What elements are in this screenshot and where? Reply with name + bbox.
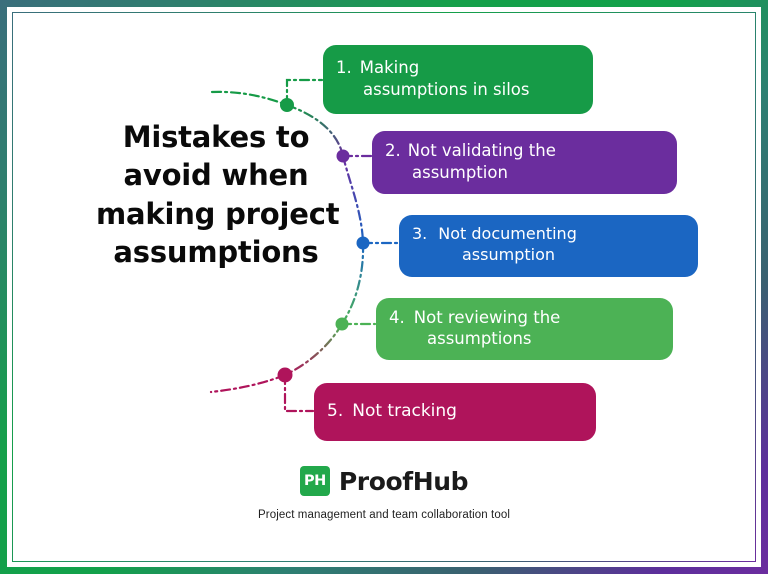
item-card-4-line-2: assumptions <box>389 328 660 349</box>
item-card-3-line-2: assumption <box>412 245 685 266</box>
item-card-4-text: 4.Not reviewing the assumptions <box>389 307 660 350</box>
infographic-canvas: Mistakes to avoid when making project as… <box>0 0 768 574</box>
item-card-5-text: 5.Not tracking <box>327 400 583 422</box>
brand-logo[interactable]: PH ProofHub <box>300 466 468 496</box>
brand-name: ProofHub <box>339 467 468 496</box>
item-card-3-number: 3. <box>412 224 427 245</box>
item-card-5[interactable]: 5.Not tracking <box>314 383 596 441</box>
item-card-1-text: 1.Making assumptions in silos <box>336 57 580 100</box>
proofhub-logo-icon: PH <box>300 466 330 496</box>
item-card-5-number: 5. <box>327 400 343 422</box>
item-card-3-text: 3.Not documenting assumption <box>412 224 685 266</box>
item-card-2-text: 2.Not validating the assumption <box>385 140 664 183</box>
item-card-1[interactable]: 1.Making assumptions in silos <box>323 45 593 114</box>
item-card-4[interactable]: 4.Not reviewing the assumptions <box>376 298 673 360</box>
item-card-2[interactable]: 2.Not validating the assumption <box>372 131 677 194</box>
item-card-5-line-1: Not tracking <box>352 401 457 421</box>
item-card-1-line-2: assumptions in silos <box>336 79 580 100</box>
page-title-line-4: assumptions <box>96 233 336 271</box>
page-title-line-2: avoid when <box>96 156 336 194</box>
footer: PH ProofHub Project management and team … <box>0 466 768 521</box>
item-card-3[interactable]: 3.Not documenting assumption <box>399 215 698 277</box>
item-card-1-line-1: Making <box>360 58 419 77</box>
item-card-4-line-1: Not reviewing the <box>414 308 561 327</box>
item-card-2-line-2: assumption <box>385 162 664 183</box>
item-card-3-line-1: Not documenting <box>438 224 577 243</box>
page-title: Mistakes to avoid when making project as… <box>96 118 336 271</box>
page-title-line-3: making project <box>96 195 336 233</box>
item-card-1-number: 1. <box>336 57 352 78</box>
item-card-4-number: 4. <box>389 307 405 328</box>
item-card-2-number: 2. <box>385 140 401 161</box>
page-title-line-1: Mistakes to <box>96 118 336 156</box>
brand-tagline: Project management and team collaboratio… <box>0 509 768 521</box>
item-card-2-line-1: Not validating the <box>408 141 556 160</box>
